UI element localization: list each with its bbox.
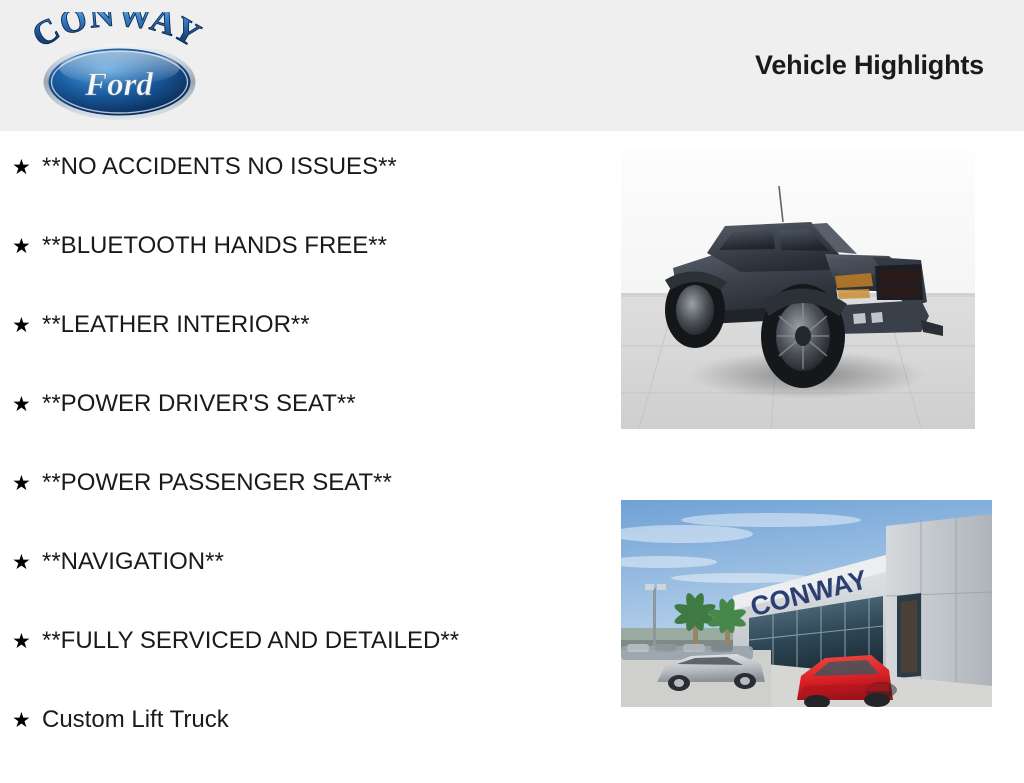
list-item: ★ **BLUETOOTH HANDS FREE** xyxy=(0,230,610,309)
highlight-label: **POWER PASSENGER SEAT** xyxy=(42,467,392,499)
highlight-label: **POWER DRIVER'S SEAT** xyxy=(42,388,356,420)
conway-ford-logo: CONWAY xyxy=(22,12,212,122)
star-bullet-icon: ★ xyxy=(12,627,31,657)
highlight-label: **FULLY SERVICED AND DETAILED** xyxy=(42,625,459,657)
star-bullet-icon: ★ xyxy=(12,311,31,341)
dealership-image: CONWAY xyxy=(621,500,992,707)
list-item: ★ **FULLY SERVICED AND DETAILED** xyxy=(0,625,610,704)
page-header: CONWAY xyxy=(0,0,1024,131)
list-item: ★ **NAVIGATION** xyxy=(0,546,610,625)
list-item: ★ **POWER PASSENGER SEAT** xyxy=(0,467,610,546)
page-title: Vehicle Highlights xyxy=(755,50,984,81)
ford-oval-icon: Ford xyxy=(42,42,197,122)
star-bullet-icon: ★ xyxy=(12,706,31,736)
list-item: ★ Custom Lift Truck xyxy=(0,704,610,783)
highlight-label: **NAVIGATION** xyxy=(42,546,224,578)
vehicle-highlights-list: ★ **NO ACCIDENTS NO ISSUES** ★ **BLUETOO… xyxy=(0,131,610,783)
ford-oval-label: Ford xyxy=(84,67,153,103)
star-bullet-icon: ★ xyxy=(12,469,31,499)
highlight-label: **LEATHER INTERIOR** xyxy=(42,309,310,341)
dealership-photo[interactable]: CONWAY xyxy=(621,500,992,707)
list-item: ★ **POWER DRIVER'S SEAT** xyxy=(0,388,610,467)
highlight-label: **BLUETOOTH HANDS FREE** xyxy=(42,230,387,262)
highlight-label: Custom Lift Truck xyxy=(42,704,229,736)
star-bullet-icon: ★ xyxy=(12,232,31,262)
truck-image xyxy=(621,150,975,429)
vehicle-highlights-page: CONWAY xyxy=(0,0,1024,768)
list-item: ★ **NO ACCIDENTS NO ISSUES** xyxy=(0,151,610,230)
star-bullet-icon: ★ xyxy=(12,548,31,578)
vehicle-photo-truck[interactable] xyxy=(621,150,975,429)
list-item: ★ **LEATHER INTERIOR** xyxy=(0,309,610,388)
star-bullet-icon: ★ xyxy=(12,390,31,420)
highlight-label: **NO ACCIDENTS NO ISSUES** xyxy=(42,151,397,183)
star-bullet-icon: ★ xyxy=(12,153,31,183)
